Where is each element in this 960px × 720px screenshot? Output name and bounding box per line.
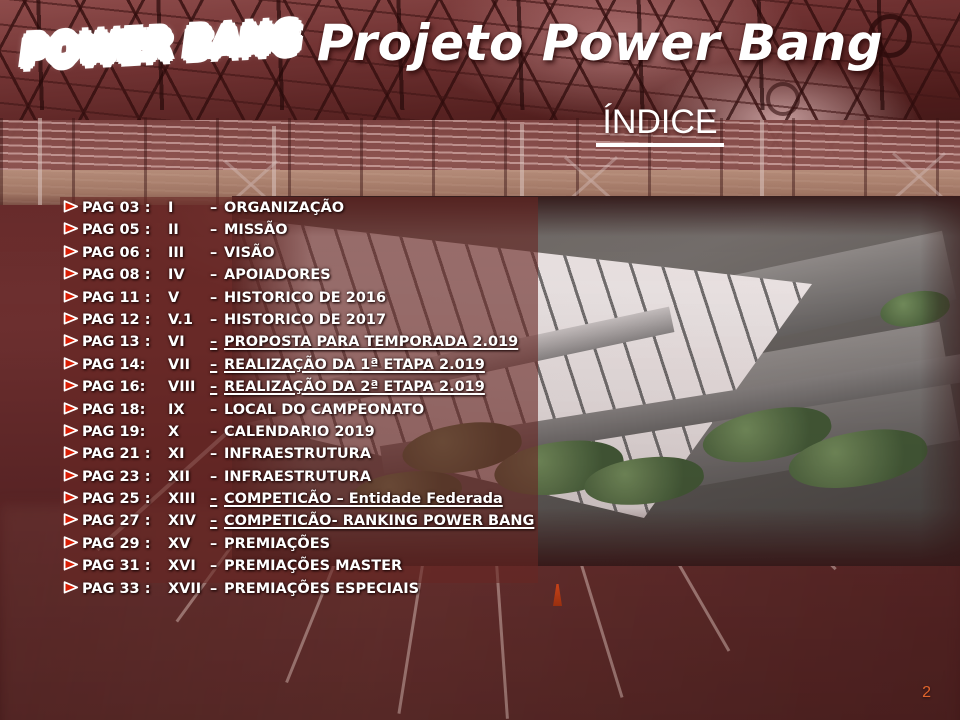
index-row[interactable]: PAG 21 :XI–INFRAESTRUTURA bbox=[60, 445, 620, 467]
index-row-numeral: XIV bbox=[168, 513, 210, 529]
index-row[interactable]: PAG 05 :II–MISSÃO bbox=[60, 221, 620, 243]
index-row-numeral: IX bbox=[168, 402, 210, 418]
index-row-dash: – bbox=[210, 536, 224, 552]
triangle-arrow-icon bbox=[60, 357, 82, 370]
index-row[interactable]: PAG 14:VII–REALIZAÇÃO DA 1ª ETAPA 2.019 bbox=[60, 356, 620, 378]
index-row-title: COMPETICÃO – Entidade Federada bbox=[224, 491, 503, 507]
power-bang-logo: POWER BANG bbox=[14, 24, 254, 96]
index-row-page: PAG 13 : bbox=[82, 334, 168, 350]
index-row-dash: – bbox=[210, 357, 224, 373]
index-row[interactable]: PAG 16:VIII–REALIZAÇÃO DA 2ª ETAPA 2.019 bbox=[60, 378, 620, 400]
triangle-arrow-icon bbox=[60, 222, 82, 235]
index-row-page: PAG 16: bbox=[82, 379, 168, 395]
index-row-dash: – bbox=[210, 334, 224, 350]
index-row-page: PAG 31 : bbox=[82, 558, 168, 574]
index-row-dash: – bbox=[210, 245, 224, 261]
index-row[interactable]: PAG 06 :III–VISÃO bbox=[60, 244, 620, 266]
page-title: Projeto Power Bang bbox=[300, 16, 900, 70]
index-row-dash: – bbox=[210, 290, 224, 306]
index-row-page: PAG 23 : bbox=[82, 469, 168, 485]
index-row-title: ORGANIZAÇÃO bbox=[224, 200, 344, 216]
index-row-page: PAG 12 : bbox=[82, 312, 168, 328]
triangle-arrow-icon bbox=[60, 424, 82, 437]
index-row-page: PAG 05 : bbox=[82, 222, 168, 238]
index-row-title: REALIZAÇÃO DA 2ª ETAPA 2.019 bbox=[224, 379, 485, 395]
index-row-page: PAG 19: bbox=[82, 424, 168, 440]
page-subtitle-text: ÍNDICE bbox=[596, 104, 723, 147]
index-row[interactable]: PAG 25 :XIII–COMPETICÃO – Entidade Feder… bbox=[60, 490, 620, 512]
index-row[interactable]: PAG 12 :V.1–HISTORICO DE 2017 bbox=[60, 311, 620, 333]
triangle-arrow-icon bbox=[60, 290, 82, 303]
index-row-dash: – bbox=[210, 446, 224, 462]
index-row-page: PAG 03 : bbox=[82, 200, 168, 216]
triangle-arrow-icon bbox=[60, 402, 82, 415]
index-row-title: REALIZAÇÃO DA 1ª ETAPA 2.019 bbox=[224, 357, 485, 373]
triangle-arrow-icon bbox=[60, 469, 82, 482]
index-row-dash: – bbox=[210, 312, 224, 328]
index-row-page: PAG 21 : bbox=[82, 446, 168, 462]
index-row-title: APOIADORES bbox=[224, 267, 331, 283]
index-row[interactable]: PAG 11 :V–HISTORICO DE 2016 bbox=[60, 289, 620, 311]
index-row-title: HISTORICO DE 2017 bbox=[224, 312, 386, 328]
index-row-dash: – bbox=[210, 491, 224, 507]
index-row-title: COMPETICÃO- RANKING POWER BANG bbox=[224, 513, 534, 529]
index-row-dash: – bbox=[210, 222, 224, 238]
page-subtitle: ÍNDICE bbox=[520, 104, 800, 147]
index-row-title: CALENDARIO 2019 bbox=[224, 424, 375, 440]
index-row-title: LOCAL DO CAMPEONATO bbox=[224, 402, 424, 418]
index-row[interactable]: PAG 08 :IV–APOIADORES bbox=[60, 266, 620, 288]
index-row-title: VISÃO bbox=[224, 245, 275, 261]
triangle-arrow-icon bbox=[60, 446, 82, 459]
index-row-numeral: X bbox=[168, 424, 210, 440]
page-number: 2 bbox=[922, 684, 931, 702]
index-row-title: PROPOSTA PARA TEMPORADA 2.019 bbox=[224, 334, 518, 350]
logo-wordmark: POWER BANG bbox=[20, 18, 248, 76]
index-row-page: PAG 27 : bbox=[82, 513, 168, 529]
index-row-dash: – bbox=[210, 267, 224, 283]
index-row-numeral: XVI bbox=[168, 558, 210, 574]
index-row-numeral: III bbox=[168, 245, 210, 261]
index-row-dash: – bbox=[210, 402, 224, 418]
index-row-numeral: I bbox=[168, 200, 210, 216]
index-row-numeral: XIII bbox=[168, 491, 210, 507]
index-row-numeral: VIII bbox=[168, 379, 210, 395]
index-row-title: MISSÃO bbox=[224, 222, 288, 238]
triangle-arrow-icon bbox=[60, 334, 82, 347]
index-row-page: PAG 33 : bbox=[82, 581, 168, 597]
index-row[interactable]: PAG 13 :VI–PROPOSTA PARA TEMPORADA 2.019 bbox=[60, 333, 620, 355]
index-row[interactable]: PAG 18:IX–LOCAL DO CAMPEONATO bbox=[60, 401, 620, 423]
index-row-numeral: XVII bbox=[168, 581, 210, 597]
triangle-arrow-icon bbox=[60, 536, 82, 549]
index-row-title: PREMIAÇÕES bbox=[224, 536, 330, 552]
index-row-dash: – bbox=[210, 424, 224, 440]
triangle-arrow-icon bbox=[60, 558, 82, 571]
index-row-numeral: V bbox=[168, 290, 210, 306]
index-row-page: PAG 14: bbox=[82, 357, 168, 373]
index-row[interactable]: PAG 23 :XII–INFRAESTRUTURA bbox=[60, 468, 620, 490]
index-row[interactable]: PAG 19:X–CALENDARIO 2019 bbox=[60, 423, 620, 445]
index-row-numeral: II bbox=[168, 222, 210, 238]
index-row-page: PAG 25 : bbox=[82, 491, 168, 507]
triangle-arrow-icon bbox=[60, 379, 82, 392]
index-row[interactable]: PAG 31 :XVI–PREMIAÇÕES MASTER bbox=[60, 557, 620, 579]
index-row-dash: – bbox=[210, 200, 224, 216]
index-row-dash: – bbox=[210, 379, 224, 395]
index-row-title: PREMIAÇÕES ESPECIAIS bbox=[224, 581, 419, 597]
index-row[interactable]: PAG 03 :I–ORGANIZAÇÃO bbox=[60, 199, 620, 221]
index-row-page: PAG 29 : bbox=[82, 536, 168, 552]
index-row-page: PAG 11 : bbox=[82, 290, 168, 306]
index-row[interactable]: PAG 27 :XIV–COMPETICÃO- RANKING POWER BA… bbox=[60, 512, 620, 534]
index-row-dash: – bbox=[210, 558, 224, 574]
index-row-title: PREMIAÇÕES MASTER bbox=[224, 558, 402, 574]
index-row-title: INFRAESTRUTURA bbox=[224, 469, 371, 485]
index-row-numeral: IV bbox=[168, 267, 210, 283]
index-row-dash: – bbox=[210, 469, 224, 485]
index-row-numeral: V.1 bbox=[168, 312, 210, 328]
triangle-arrow-icon bbox=[60, 200, 82, 213]
index-row-title: INFRAESTRUTURA bbox=[224, 446, 371, 462]
index-row-page: PAG 18: bbox=[82, 402, 168, 418]
index-row-numeral: VI bbox=[168, 334, 210, 350]
index-list: PAG 03 :I–ORGANIZAÇÃOPAG 05 :II–MISSÃOPA… bbox=[60, 199, 620, 602]
index-row[interactable]: PAG 29 :XV–PREMIAÇÕES bbox=[60, 535, 620, 557]
triangle-arrow-icon bbox=[60, 491, 82, 504]
presentation-slide: POWER BANG Projeto Power Bang ÍNDICE PAG… bbox=[0, 0, 960, 720]
index-row-numeral: XI bbox=[168, 446, 210, 462]
index-row-page: PAG 08 : bbox=[82, 267, 168, 283]
index-row-dash: – bbox=[210, 513, 224, 529]
triangle-arrow-icon bbox=[60, 581, 82, 594]
index-row-dash: – bbox=[210, 581, 224, 597]
index-row-numeral: XV bbox=[168, 536, 210, 552]
index-row-numeral: XII bbox=[168, 469, 210, 485]
triangle-arrow-icon bbox=[60, 267, 82, 280]
triangle-arrow-icon bbox=[60, 245, 82, 258]
index-row-page: PAG 06 : bbox=[82, 245, 168, 261]
index-row-title: HISTORICO DE 2016 bbox=[224, 290, 386, 306]
index-row-numeral: VII bbox=[168, 357, 210, 373]
triangle-arrow-icon bbox=[60, 513, 82, 526]
index-row[interactable]: PAG 33 :XVII–PREMIAÇÕES ESPECIAIS bbox=[60, 580, 620, 602]
triangle-arrow-icon bbox=[60, 312, 82, 325]
